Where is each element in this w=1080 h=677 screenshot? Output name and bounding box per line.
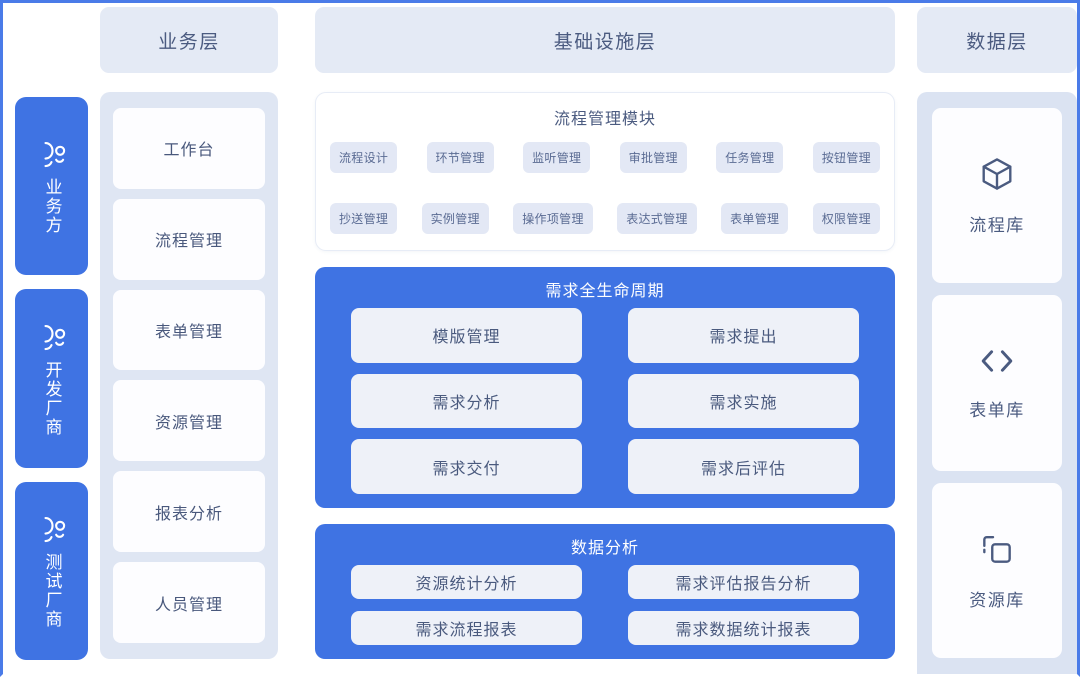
chip-process-design[interactable]: 流程设计 bbox=[330, 142, 397, 173]
business-item-resource-mgmt[interactable]: 资源管理 bbox=[113, 380, 265, 461]
data-analysis-panel: 数据分析 资源统计分析 需求评估报告分析 需求流程报表 需求数据统计报表 bbox=[315, 524, 895, 659]
actor-card-business[interactable]: 业务方 bbox=[15, 97, 88, 275]
data-card-resource-repository[interactable]: 资源库 bbox=[932, 483, 1062, 658]
business-layer-list: 工作台 流程管理 表单管理 资源管理 报表分析 人员管理 bbox=[100, 92, 278, 659]
business-item-form-mgmt[interactable]: 表单管理 bbox=[113, 290, 265, 371]
business-item-personnel-mgmt[interactable]: 人员管理 bbox=[113, 562, 265, 643]
data-layer-column: 数据层 流程库 表单库 bbox=[917, 3, 1077, 674]
analysis-btn-resource-statistics[interactable]: 资源统计分析 bbox=[351, 565, 582, 599]
data-card-form-repository[interactable]: 表单库 bbox=[932, 295, 1062, 470]
actor-rail-spacer bbox=[15, 17, 88, 83]
chip-button-mgmt[interactable]: 按钮管理 bbox=[813, 142, 880, 173]
lifecycle-button-grid: 模版管理 需求提出 需求分析 需求实施 需求交付 需求后评估 bbox=[351, 308, 859, 494]
lifecycle-btn-template-mgmt[interactable]: 模版管理 bbox=[351, 308, 582, 363]
data-card-label: 资源库 bbox=[969, 586, 1025, 611]
lifecycle-btn-requirement-delivery[interactable]: 需求交付 bbox=[351, 439, 582, 494]
chip-instance-mgmt[interactable]: 实例管理 bbox=[422, 203, 489, 234]
analysis-btn-data-statistics-report[interactable]: 需求数据统计报表 bbox=[628, 611, 859, 645]
data-card-label: 流程库 bbox=[969, 211, 1025, 236]
chip-node-mgmt[interactable]: 环节管理 bbox=[427, 142, 494, 173]
actor-label: 业务方 bbox=[41, 178, 61, 235]
chip-expression-mgmt[interactable]: 表达式管理 bbox=[617, 203, 697, 234]
process-chip-row-2: 抄送管理 实例管理 操作项管理 表达式管理 表单管理 权限管理 bbox=[330, 203, 880, 234]
actor-label: 开发厂商 bbox=[41, 361, 61, 437]
chip-form-mgmt[interactable]: 表单管理 bbox=[721, 203, 788, 234]
business-item-report-analysis[interactable]: 报表分析 bbox=[113, 471, 265, 552]
data-layer-list: 流程库 表单库 资 bbox=[917, 92, 1077, 674]
lifecycle-btn-requirement-submit[interactable]: 需求提出 bbox=[628, 308, 859, 363]
chip-permission-mgmt[interactable]: 权限管理 bbox=[813, 203, 880, 234]
analysis-button-grid: 资源统计分析 需求评估报告分析 需求流程报表 需求数据统计报表 bbox=[351, 565, 859, 645]
analysis-btn-evaluation-report[interactable]: 需求评估报告分析 bbox=[628, 565, 859, 599]
business-layer-column: 业务层 工作台 流程管理 表单管理 资源管理 报表分析 人员管理 bbox=[100, 3, 278, 674]
user-group-icon bbox=[34, 140, 69, 170]
actor-label: 测试厂商 bbox=[41, 553, 61, 629]
user-group-icon bbox=[34, 322, 69, 352]
chip-approval-mgmt[interactable]: 审批管理 bbox=[620, 142, 687, 173]
cube-icon bbox=[978, 155, 1016, 198]
data-card-label: 表单库 bbox=[969, 396, 1025, 421]
actor-card-test-vendor[interactable]: 测试厂商 bbox=[15, 482, 88, 660]
business-item-process-mgmt[interactable]: 流程管理 bbox=[113, 199, 265, 280]
lifecycle-panel-title: 需求全生命周期 bbox=[351, 277, 859, 301]
architecture-diagram: 业务方 开发厂商 测试厂商 bbox=[0, 0, 1080, 677]
chip-operation-item-mgmt[interactable]: 操作项管理 bbox=[513, 203, 593, 234]
actor-card-dev-vendor[interactable]: 开发厂商 bbox=[15, 289, 88, 467]
infrastructure-layer-header: 基础设施层 bbox=[315, 7, 895, 73]
business-item-workbench[interactable]: 工作台 bbox=[113, 108, 265, 189]
lifecycle-btn-requirement-analysis[interactable]: 需求分析 bbox=[351, 374, 582, 429]
analysis-btn-process-report[interactable]: 需求流程报表 bbox=[351, 611, 582, 645]
chip-cc-mgmt[interactable]: 抄送管理 bbox=[330, 203, 397, 234]
chip-task-mgmt[interactable]: 任务管理 bbox=[716, 142, 783, 173]
actor-rail: 业务方 开发厂商 测试厂商 bbox=[3, 3, 100, 674]
copy-squares-icon bbox=[978, 530, 1016, 573]
process-management-module-card: 流程管理模块 流程设计 环节管理 监听管理 审批管理 任务管理 按钮管理 抄送管… bbox=[315, 92, 895, 251]
chip-listener-mgmt[interactable]: 监听管理 bbox=[523, 142, 590, 173]
infrastructure-layer-body: 流程管理模块 流程设计 环节管理 监听管理 审批管理 任务管理 按钮管理 抄送管… bbox=[315, 92, 895, 659]
data-layer-header: 数据层 bbox=[917, 7, 1077, 73]
business-layer-header: 业务层 bbox=[100, 7, 278, 73]
process-module-title: 流程管理模块 bbox=[330, 105, 880, 129]
lifecycle-btn-requirement-implement[interactable]: 需求实施 bbox=[628, 374, 859, 429]
infrastructure-layer-column: 基础设施层 流程管理模块 流程设计 环节管理 监听管理 审批管理 任务管理 按钮… bbox=[278, 3, 917, 674]
code-brackets-icon bbox=[977, 344, 1017, 383]
data-card-process-repository[interactable]: 流程库 bbox=[932, 108, 1062, 283]
requirement-lifecycle-panel: 需求全生命周期 模版管理 需求提出 需求分析 需求实施 需求交付 需求后评估 bbox=[315, 267, 895, 508]
process-chip-row-1: 流程设计 环节管理 监听管理 审批管理 任务管理 按钮管理 bbox=[330, 142, 880, 173]
lifecycle-btn-post-evaluation[interactable]: 需求后评估 bbox=[628, 439, 859, 494]
user-group-icon bbox=[34, 515, 69, 545]
analysis-panel-title: 数据分析 bbox=[351, 534, 859, 558]
